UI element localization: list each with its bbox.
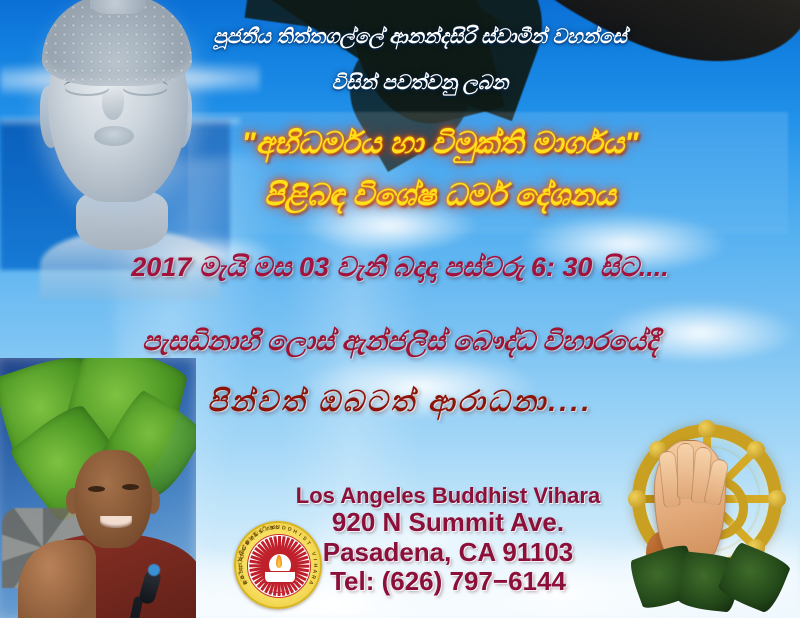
wheel-knob: [747, 441, 765, 459]
sermon-title-line-2: පිළිබඳ විශේෂ ධර්ම දේශනය: [150, 178, 730, 213]
city-state-zip: Pasadena, CA 91103: [258, 538, 638, 568]
event-poster: පූජනීය තිත්තගල්ලේ ආනන්දසිරි ස්වාමීන් වහන…: [0, 0, 800, 618]
host-line-1: පූජනීය තිත්තගල්ලේ ආනන්දසිරි ස්වාමීන් වහන…: [140, 26, 700, 50]
invitation-line: පින්වත් ඔබටත් ආරාධනා....: [120, 385, 680, 419]
address-block: Los Angeles Buddhist Vihara 920 N Summit…: [258, 483, 638, 597]
wheel-knob: [698, 420, 716, 438]
buddha-mouth: [94, 126, 134, 146]
street-address: 920 N Summit Ave.: [258, 508, 638, 538]
wheel-knob: [768, 490, 786, 508]
monk-eye-right: [122, 484, 139, 490]
event-date-time: 2017 මැයි මස 03 වැනි බදාදා පස්වරු 6: 30 …: [10, 252, 790, 284]
monk-head: [74, 450, 152, 548]
phone-number: Tel: (626) 797−6144: [258, 567, 638, 597]
host-line-2: විසින් පවත්වනු ලබන: [140, 72, 700, 96]
buddha-nose: [102, 86, 124, 120]
monk-eye-left: [88, 486, 105, 492]
organization-name: Los Angeles Buddhist Vihara: [258, 483, 638, 508]
monk-photo: [0, 358, 196, 618]
microphone-light: [148, 564, 160, 576]
buddha-ushnisha: [90, 0, 146, 14]
event-venue: පැසඩිනාහි ලොස් ඇන්ජලිස් බෞද්ධ විහාරයේදී: [10, 326, 790, 358]
dharma-wheel-emblem: [628, 420, 796, 600]
sermon-title-line-1: "අභිධර්මය හා විමුක්ති මාර්ගය": [150, 126, 730, 161]
monk-mouth: [100, 516, 132, 528]
abhaya-mudra-hand-icon: [654, 440, 726, 562]
